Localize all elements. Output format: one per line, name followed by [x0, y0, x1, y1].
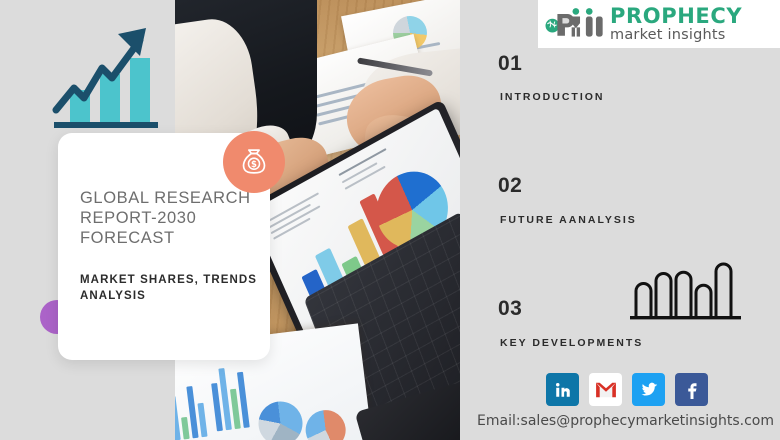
sidebar-item-key-developments[interactable]: KEY DEVELOPMENTS: [500, 337, 643, 349]
svg-text:$: $: [251, 160, 257, 170]
bar-chart-outline-icon: [628, 260, 743, 322]
brand-name-secondary: market insights: [610, 28, 742, 43]
card-subtitle: MARKET SHARES, TRENDS ANALYSIS: [80, 272, 260, 304]
pmi-people-globe-logo: [544, 6, 606, 42]
gmail-icon[interactable]: [589, 373, 622, 406]
agenda-number-01: 01: [498, 52, 522, 76]
sidebar-item-introduction[interactable]: INTRODUCTION: [500, 91, 605, 103]
contact-email[interactable]: Email:sales@prophecymarketinsights.com: [477, 413, 774, 429]
money-bag-icon: $: [223, 131, 285, 193]
brand-wordmark: PROPHECY market insights: [610, 6, 742, 43]
brand-logo[interactable]: PROPHECY market insights: [538, 0, 780, 48]
sidebar-item-future-analysis[interactable]: FUTURE AANALYSIS: [500, 214, 637, 226]
page-title: GLOBAL RESEARCH REPORT-2030 FORECAST: [80, 188, 266, 248]
slide-canvas: GLOBAL RESEARCH REPORT-2030 FORECAST MAR…: [0, 0, 780, 440]
growth-bar-chart-arrow-icon: [44, 18, 164, 128]
linkedin-icon[interactable]: [546, 373, 579, 406]
brand-name-primary: PROPHECY: [610, 6, 742, 27]
agenda-number-02: 02: [498, 174, 522, 198]
agenda-number-03: 03: [498, 297, 522, 321]
twitter-icon[interactable]: [632, 373, 665, 406]
social-links: [546, 373, 708, 406]
facebook-icon[interactable]: [675, 373, 708, 406]
